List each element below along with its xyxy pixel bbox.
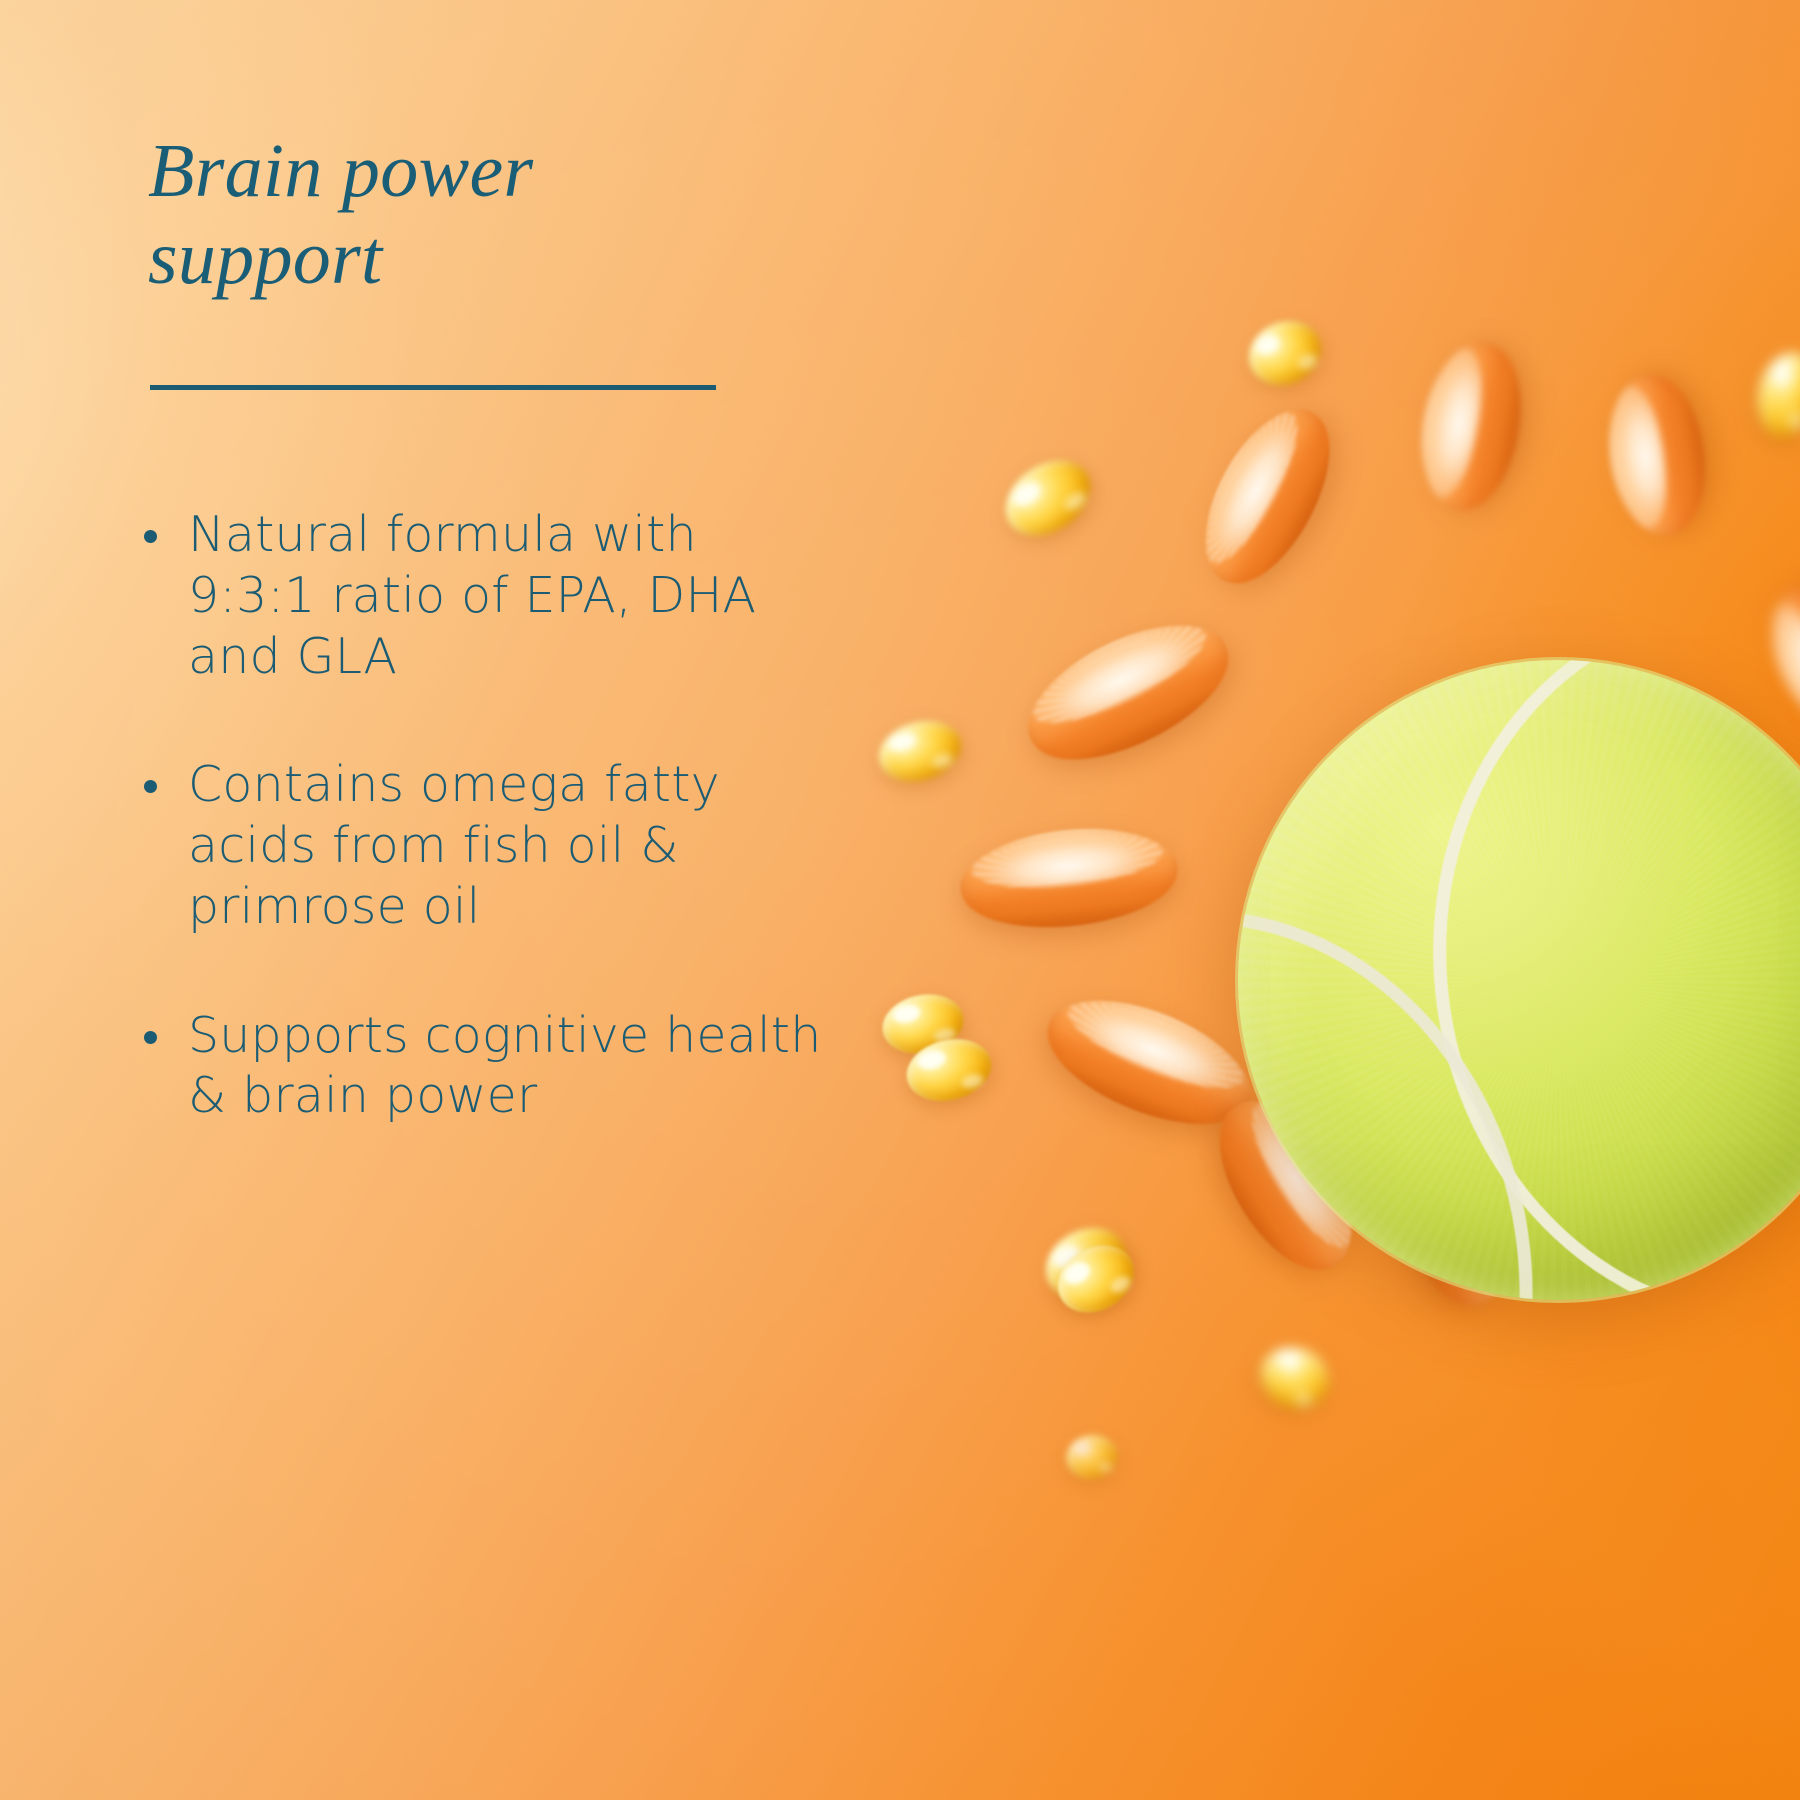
tennis-ball — [1238, 660, 1800, 1300]
list-item: Natural formula with 9:3:1 ratio of EPA,… — [142, 505, 832, 687]
softgel-capsule — [1251, 1337, 1338, 1419]
benefits-list: Natural formula with 9:3:1 ratio of EPA,… — [142, 505, 832, 1127]
list-item-text: Natural formula with 9:3:1 ratio of EPA,… — [188, 506, 756, 685]
mandarin-segment — [956, 819, 1183, 937]
product-photo — [820, 0, 1800, 1800]
bullet-dot-icon — [144, 530, 157, 543]
bullet-dot-icon — [144, 1031, 157, 1044]
mandarin-segment — [1008, 598, 1248, 786]
softgel-capsule — [872, 712, 969, 791]
page-title-line-1: Brain power — [148, 129, 533, 213]
copy-column: Brain powersupport Natural formula with … — [0, 0, 830, 1800]
softgel-capsule — [1063, 1432, 1121, 1483]
softgel-capsule — [991, 445, 1104, 551]
product-benefit-card: Brain powersupport Natural formula with … — [0, 0, 1800, 1800]
softgel-capsule — [1750, 347, 1800, 444]
list-item-text: Contains omega fatty acids from fish oil… — [188, 756, 720, 935]
mandarin-segment — [1180, 390, 1354, 603]
list-item: Supports cognitive health & brain power — [142, 1006, 832, 1128]
page-title: Brain powersupport — [148, 128, 768, 301]
page-title-line-2: support — [148, 216, 382, 300]
list-item: Contains omega fatty acids from fish oil… — [142, 755, 832, 937]
mandarin-segment — [1409, 334, 1533, 518]
mandarin-segment — [1599, 368, 1715, 542]
list-item-text: Supports cognitive health & brain power — [188, 1007, 821, 1125]
softgel-capsule — [1239, 310, 1332, 397]
title-divider — [150, 385, 716, 390]
bullet-dot-icon — [144, 780, 157, 793]
